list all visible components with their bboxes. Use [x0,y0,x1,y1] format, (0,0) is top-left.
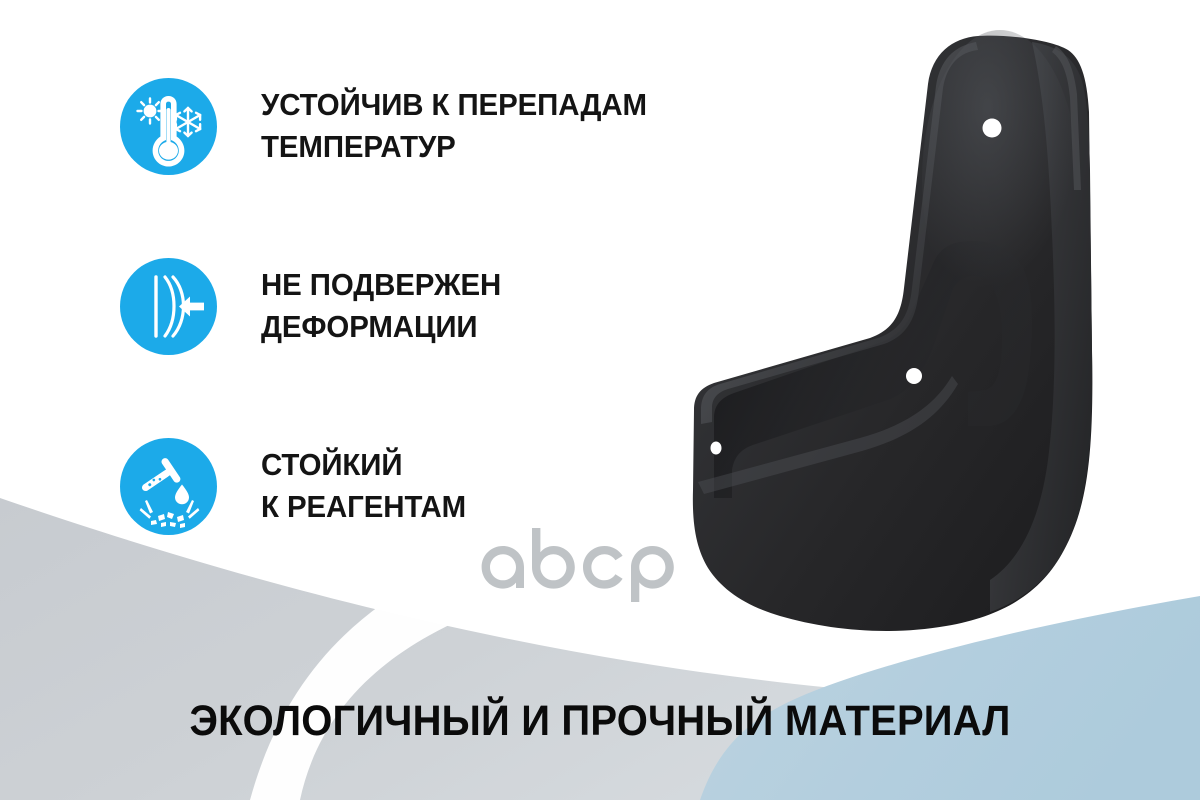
mounting-hole-top [983,119,1002,138]
feature-item-deformation: НЕ ПОДВЕРЖЕН ДЕФОРМАЦИИ [120,258,510,355]
splash-glyph [140,500,200,528]
promo-banner: УСТОЙЧИВ К ПЕРЕПАДАМ ТЕМПЕРАТУР НЕ ПО [0,0,1200,800]
feature-item-reagents: СТОЙКИЙ К РЕАГЕНТАМ [120,438,474,535]
feature-label-deformation: НЕ ПОДВЕРЖЕН ДЕФОРМАЦИИ [261,258,501,348]
mud-flap-sheen [922,30,1078,330]
mounting-hole-left [711,442,722,455]
mounting-hole-middle [906,368,922,384]
abcp-watermark [476,524,686,602]
feature-label-reagents: СТОЙКИЙ К РЕАГЕНТАМ [261,438,466,528]
thermometer-sun-snowflake-icon [120,78,217,175]
feature-item-temperature: УСТОЙЧИВ К ПЕРЕПАДАМ ТЕМПЕРАТУР [120,78,661,175]
flask-glyph [135,457,182,501]
feature-label-temperature: УСТОЙЧИВ К ПЕРЕПАДАМ ТЕМПЕРАТУР [261,78,647,168]
flask-droplet-splash-icon [120,438,217,535]
droplet-glyph [175,485,189,505]
flex-arrow-icon [120,258,217,355]
bottom-headline: ЭКОЛОГИЧНЫЙ И ПРОЧНЫЙ МАТЕРИАЛ [42,697,1158,746]
product-image [660,20,1130,670]
